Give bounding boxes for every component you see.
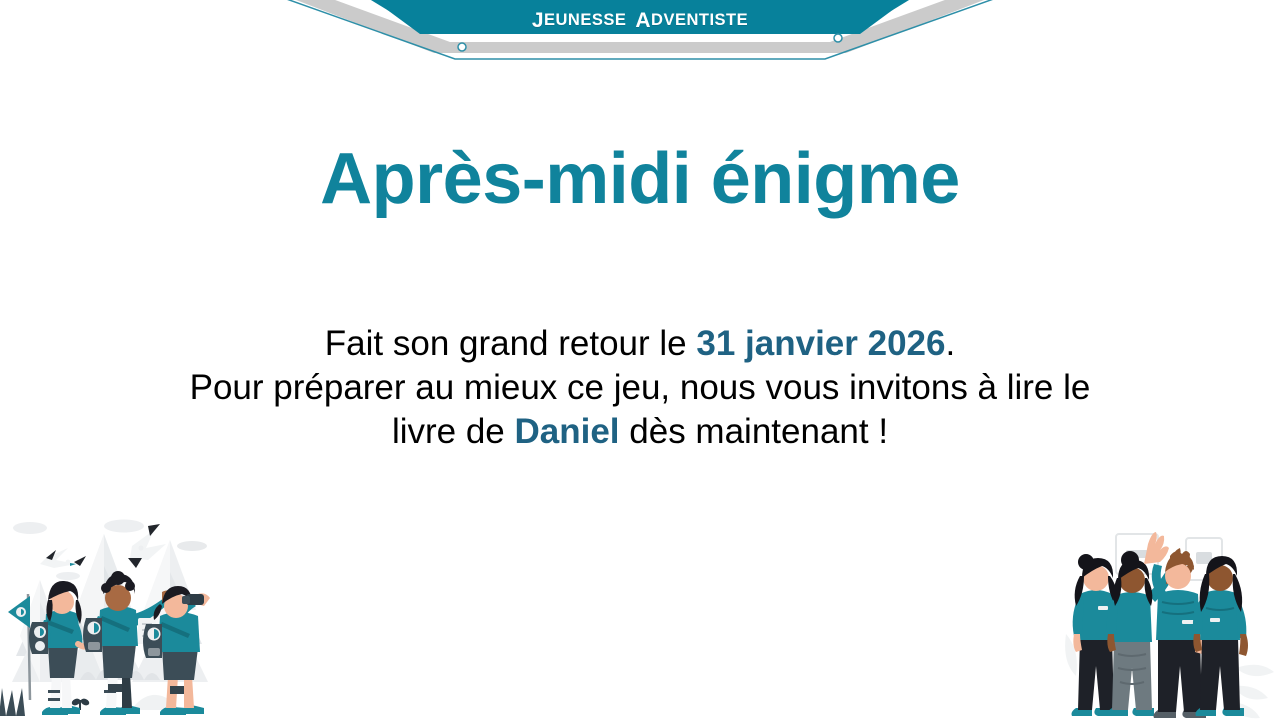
body-line-1: Fait son grand retour le 31 janvier 2026… [64,322,1216,366]
banner-title-word2-cap: A [635,10,651,31]
scouts-in-forest-illustration [0,504,228,720]
banner-title-word1-cap: J [532,10,544,31]
cloud-icon-a [13,522,47,534]
banner-white-gap [275,0,1005,42]
banner-hairline-node-left [458,43,466,51]
top-banner: JEUNESSEADVENTISTE [0,0,1280,70]
banner-teal-ribbon [300,0,980,34]
banner-title: JEUNESSEADVENTISTE [0,0,1280,40]
banner-grey-band [244,0,1036,53]
cloud-icon-b [104,520,144,533]
cloud-icon-c [177,541,207,551]
slide-body-text: Fait son grand retour le 31 janvier 2026… [64,322,1216,454]
banner-title-word2-rest: DVENTISTE [651,12,748,29]
banner-title-word1-rest: EUNESSE [544,12,626,29]
cloud-icon-d [56,572,80,580]
body-line-3-before: livre de [392,412,515,451]
body-line-2: Pour préparer au mieux ce jeu, nous vous… [64,366,1216,410]
slide-title: Après-midi énigme [0,142,1280,218]
bird-icon-left [40,548,86,568]
body-line-3-after: dès maintenant ! [620,412,889,451]
body-line-1-before: Fait son grand retour le [325,324,697,363]
banner-hairline-node-right [834,34,842,42]
banner-hairline [250,0,1030,59]
team-high-five-illustration [1058,522,1280,720]
ground-grass-icon [0,688,25,716]
body-line-1-highlight-date: 31 janvier 2026 [696,324,945,363]
body-line-1-after: . [945,324,955,363]
body-line-3: livre de Daniel dès maintenant ! [64,410,1216,454]
body-line-3-highlight-book: Daniel [515,412,620,451]
slide-canvas: JEUNESSEADVENTISTE Après-midi énigme Fai… [0,0,1280,720]
